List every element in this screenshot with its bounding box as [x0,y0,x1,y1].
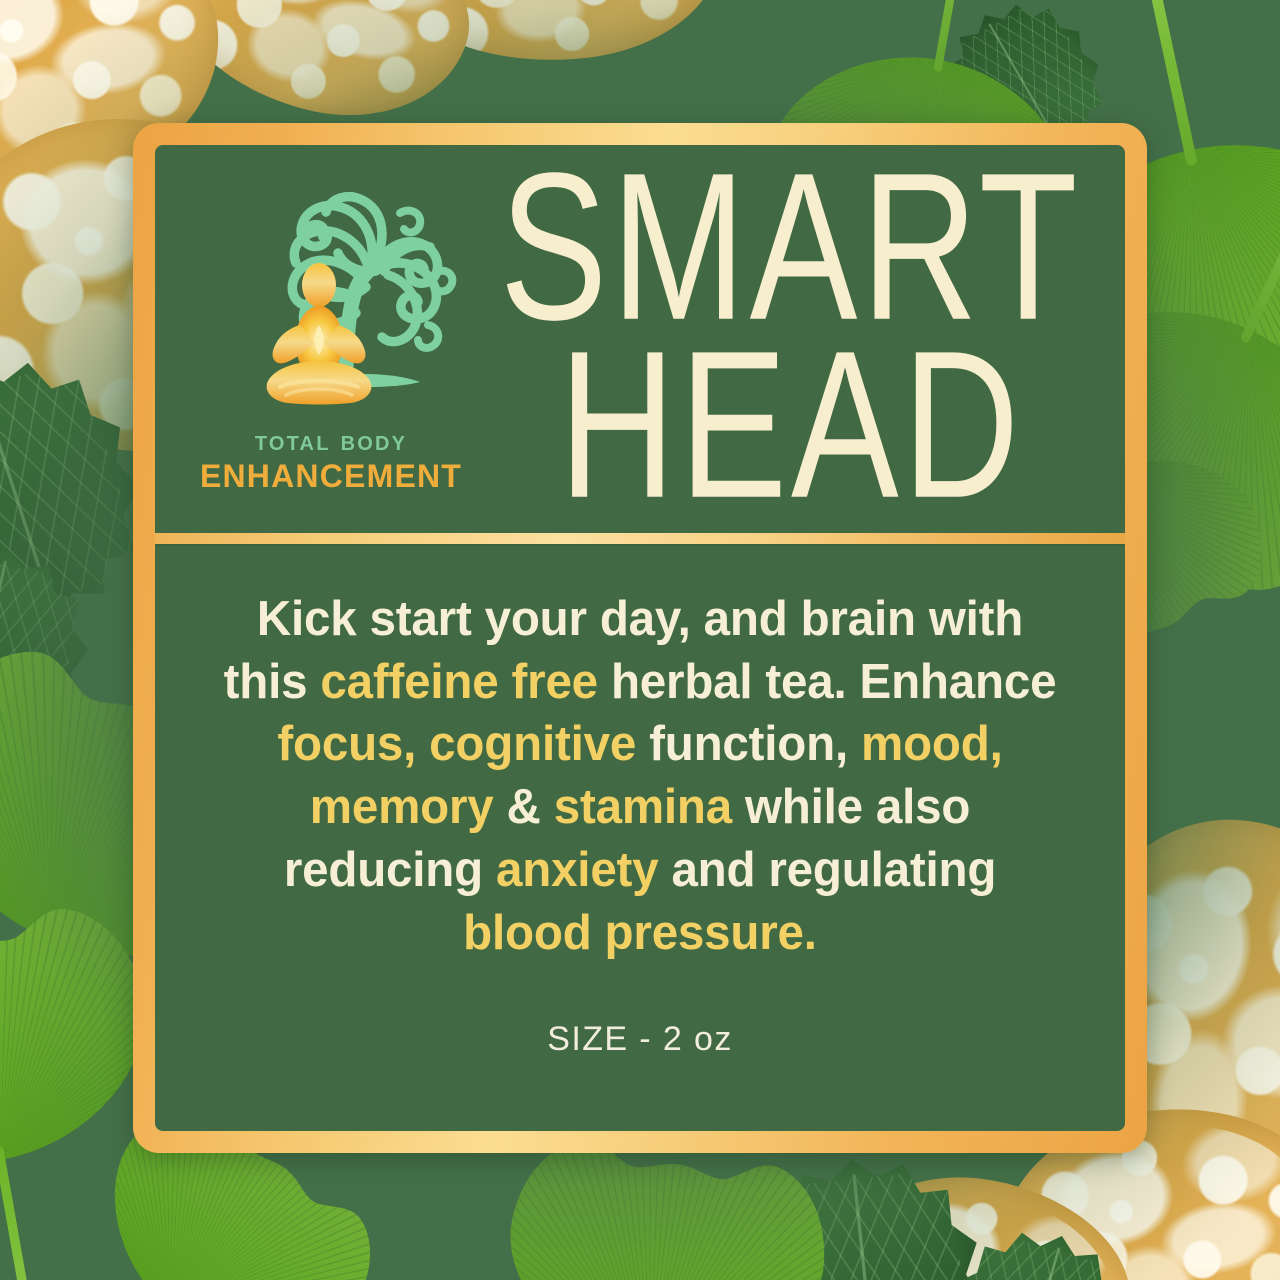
product-label-image: Total Body ENHANCEMENT SMART HEAD Kick s… [0,0,1280,1280]
description-text: & [494,780,554,834]
brand-line-2: ENHANCEMENT [200,460,462,492]
tree-logo-icon [196,175,466,425]
description-text: herbal tea. Enhance [598,655,1056,709]
label-body: Kick start your day, and brain with this… [155,544,1125,1131]
description-highlight: caffeine free [320,655,598,709]
brand-logo: Total Body ENHANCEMENT [181,175,481,505]
product-title: SMART HEAD [481,174,1100,506]
size-label: SIZE - 2 oz [547,1020,732,1059]
description-text: and regulating [658,843,996,897]
brand-line-1: Total Body [200,427,462,455]
label-card: Total Body ENHANCEMENT SMART HEAD Kick s… [133,123,1147,1153]
description-highlight: blood pressure. [463,906,817,960]
product-title-line-2: HEAD [558,336,1022,516]
description-text: function, [636,717,861,771]
description-highlight: focus, cognitive [277,717,636,771]
description-highlight: anxiety [496,843,658,897]
label-card-inner: Total Body ENHANCEMENT SMART HEAD Kick s… [155,145,1125,1131]
label-header: Total Body ENHANCEMENT SMART HEAD [155,145,1125,523]
product-description: Kick start your day, and brain with this… [220,588,1060,964]
description-highlight: stamina [554,780,732,834]
brand-wordmark: Total Body ENHANCEMENT [200,427,462,492]
